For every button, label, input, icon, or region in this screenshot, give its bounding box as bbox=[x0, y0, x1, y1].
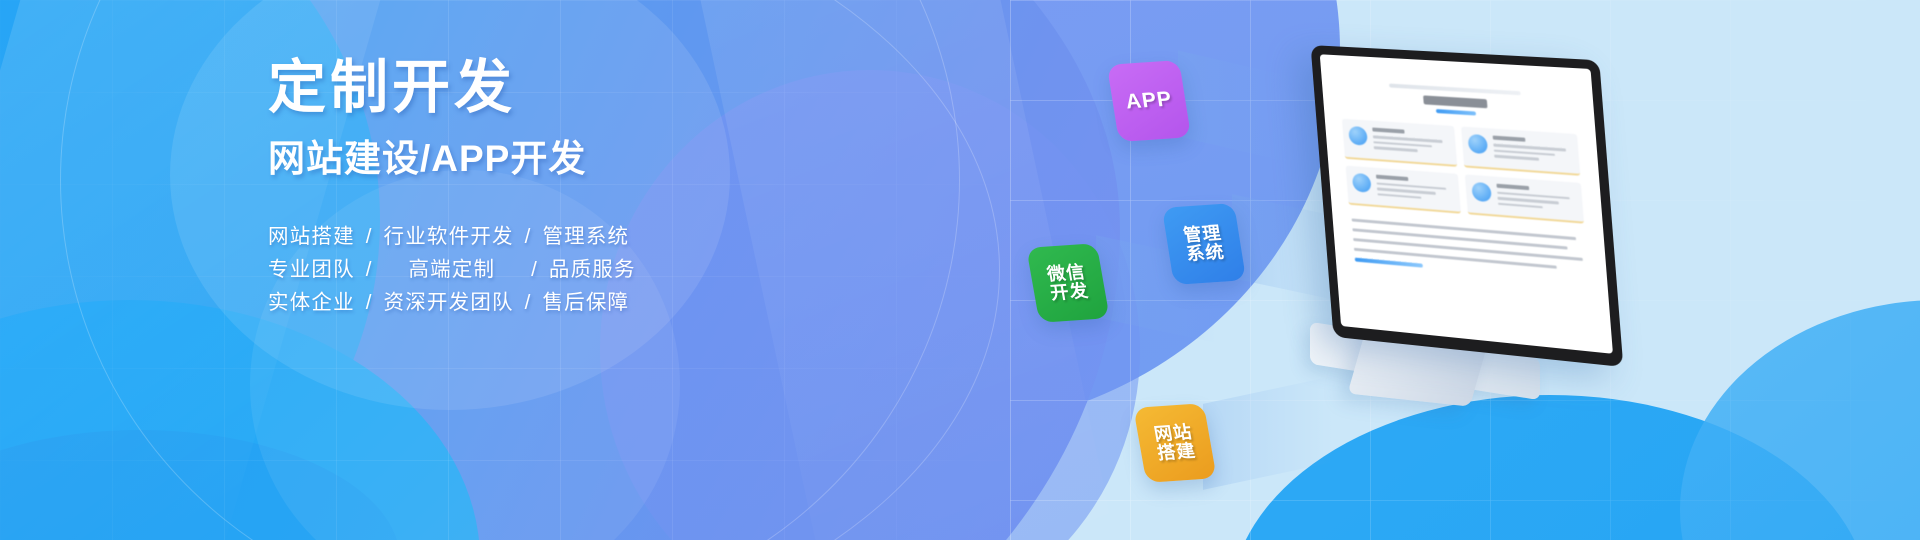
website-preview bbox=[1320, 54, 1613, 354]
banner-copy: 定制开发 网站建设/APP开发 网站搭建 / 行业软件开发 / 管理系统 专业团… bbox=[268, 58, 788, 319]
preview-card-line bbox=[1497, 202, 1543, 208]
website-building-cube[interactable]: 网站 搭建 bbox=[1133, 403, 1216, 483]
management-system-line-2: 系统 bbox=[1185, 242, 1226, 264]
website-building-line-2: 搭建 bbox=[1156, 441, 1198, 463]
feature-list: 网站搭建 / 行业软件开发 / 管理系统 专业团队 / 高端定制 / 品质服务 … bbox=[268, 220, 788, 319]
feature-2-item-2: 高端定制 bbox=[408, 258, 495, 281]
preview-card-icon bbox=[1467, 134, 1488, 154]
preview-card-text bbox=[1372, 128, 1450, 157]
preview-underline bbox=[1436, 109, 1475, 115]
preview-card-heading bbox=[1372, 128, 1404, 134]
promo-banner: 定制开发 网站建设/APP开发 网站搭建 / 行业软件开发 / 管理系统 专业团… bbox=[0, 0, 1920, 540]
preview-card-heading bbox=[1376, 174, 1408, 180]
wechat-development-cube-label: 微信 开发 bbox=[1046, 263, 1091, 303]
website-building-cube-label: 网站 搭建 bbox=[1153, 423, 1198, 463]
preview-title bbox=[1423, 95, 1487, 108]
feature-line-2: 专业团队 / 高端定制 / 品质服务 bbox=[268, 253, 788, 286]
preview-paragraph-accent bbox=[1355, 258, 1423, 268]
feature-line-3: 实体企业 / 资深开发团队 / 售后保障 bbox=[268, 286, 788, 319]
feature-1-item-1: 网站搭建 bbox=[268, 225, 355, 248]
feature-3-item-3: 售后保障 bbox=[542, 291, 629, 314]
preview-card bbox=[1346, 165, 1461, 214]
monitor-frame bbox=[1311, 45, 1624, 367]
preview-card-line bbox=[1494, 155, 1540, 161]
feature-2-item-3: 品质服务 bbox=[549, 258, 636, 281]
feature-separator: / bbox=[362, 258, 377, 281]
preview-card-text bbox=[1376, 174, 1454, 204]
feature-1-item-3: 管理系统 bbox=[542, 225, 629, 248]
feature-separator: / bbox=[362, 225, 377, 248]
management-system-cube-label: 管理 系统 bbox=[1182, 224, 1226, 264]
feature-line-1: 网站搭建 / 行业软件开发 / 管理系统 bbox=[268, 220, 788, 253]
feature-separator: / bbox=[521, 291, 536, 314]
banner-headline: 定制开发 bbox=[268, 58, 788, 119]
management-system-cube[interactable]: 管理 系统 bbox=[1162, 203, 1246, 285]
preview-card-line bbox=[1377, 193, 1421, 199]
preview-card-line bbox=[1374, 146, 1418, 152]
app-cube-label: APP bbox=[1124, 88, 1174, 113]
preview-card-heading bbox=[1496, 183, 1529, 190]
preview-card bbox=[1464, 174, 1584, 224]
feature-separator: / bbox=[521, 225, 536, 248]
banner-subheadline: 网站建设/APP开发 bbox=[268, 139, 788, 180]
wechat-development-line-2: 开发 bbox=[1049, 281, 1091, 303]
preview-card-grid bbox=[1338, 118, 1588, 224]
feature-1-item-2: 行业软件开发 bbox=[384, 225, 514, 248]
preview-card-text bbox=[1492, 136, 1573, 166]
preview-card-icon bbox=[1471, 181, 1492, 201]
preview-card bbox=[1461, 126, 1581, 175]
feature-2-item-1: 专业团队 bbox=[268, 258, 355, 281]
feature-3-item-2: 资深开发团队 bbox=[384, 291, 514, 314]
preview-paragraph bbox=[1346, 218, 1593, 283]
monitor-screen bbox=[1320, 54, 1613, 354]
preview-card-icon bbox=[1352, 172, 1372, 192]
feature-3-item-1: 实体企业 bbox=[268, 291, 355, 314]
preview-card-icon bbox=[1348, 126, 1368, 146]
preview-paragraph-line bbox=[1354, 248, 1557, 269]
app-cube[interactable]: APP bbox=[1107, 60, 1191, 142]
preview-card bbox=[1342, 119, 1457, 167]
preview-card-text bbox=[1496, 183, 1577, 214]
feature-separator: / bbox=[527, 258, 542, 281]
monitor-illustration bbox=[1311, 45, 1624, 367]
preview-card-heading bbox=[1492, 136, 1525, 142]
wechat-development-cube[interactable]: 微信 开发 bbox=[1026, 243, 1109, 323]
preview-eyebrow bbox=[1389, 84, 1520, 96]
feature-separator: / bbox=[362, 291, 377, 314]
